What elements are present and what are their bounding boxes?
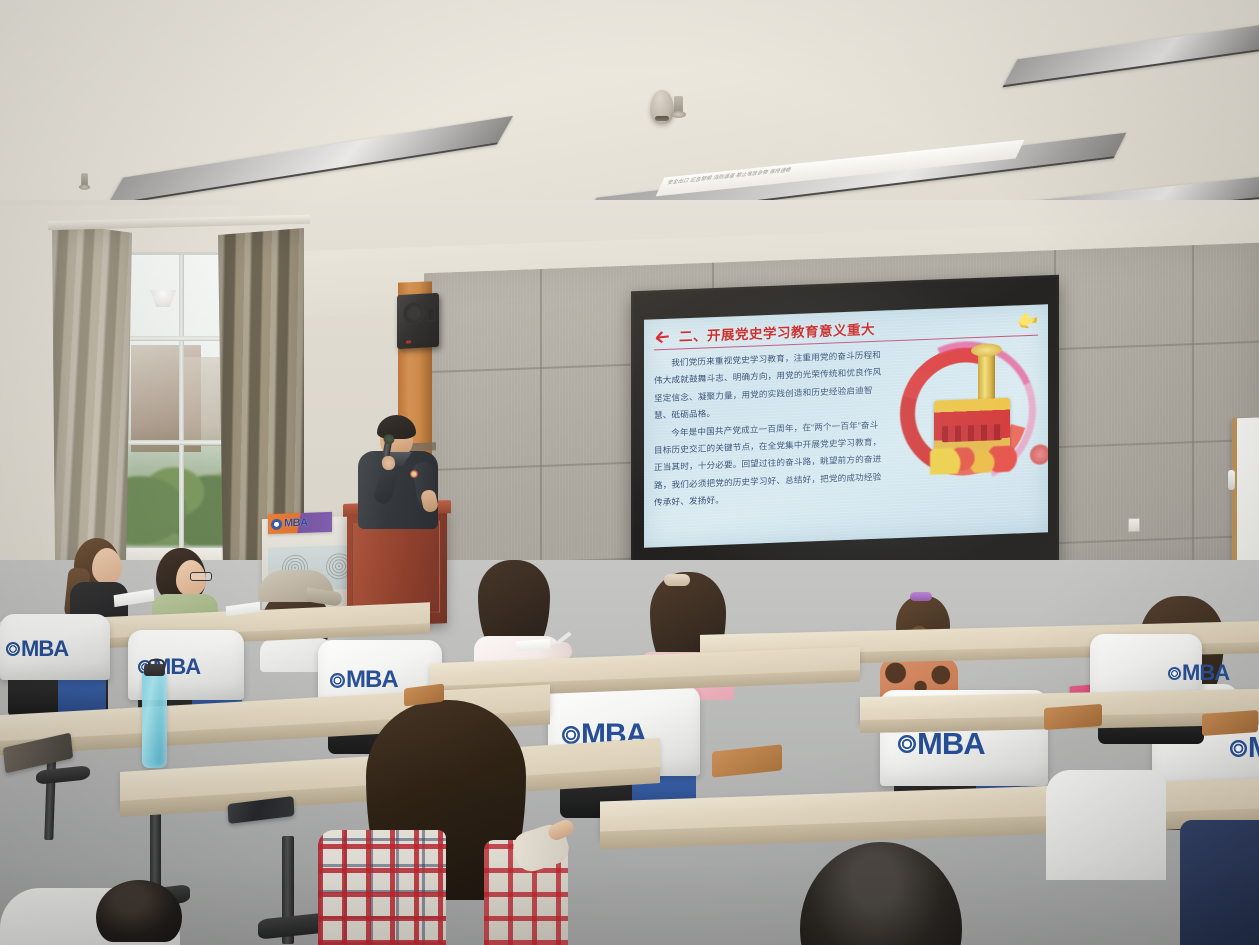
curtain-left[interactable] <box>52 222 132 582</box>
wall-speaker-icon <box>397 293 439 349</box>
floor-shading <box>0 860 1259 945</box>
presenter <box>352 418 442 528</box>
slide-title: 二、开展党史学习教育意义重大 <box>679 318 875 346</box>
slide-body: 我们党历来重视党史学习教育，注重用党的奋斗历程和伟大成就鼓舞斗志、明确方向，用党… <box>654 346 886 512</box>
projection-screen[interactable]: 二、开展党史学习教育意义重大 我们党历来重视党史学习教育，注重用党的奋斗历程和伟… <box>644 304 1048 548</box>
podium-mba-banner: MBA <box>268 512 332 534</box>
ceiling-light-slot <box>1002 23 1259 88</box>
podium-front-panel <box>352 520 440 615</box>
wooden-seat <box>1044 704 1102 730</box>
slide-paragraph: 今年是中国共产党成立一百周年，在“两个一百年”奋斗目标历史交汇的关键节点，在全党… <box>654 416 886 512</box>
mba-seal-icon <box>271 518 282 529</box>
wooden-seat <box>1202 710 1258 736</box>
eyeglasses-icon <box>190 572 212 581</box>
mba-seal-icon <box>1230 740 1247 757</box>
bottle-cap[interactable] <box>144 664 165 676</box>
hair-tie-icon <box>910 592 932 601</box>
mba-label: MBA <box>1248 734 1259 763</box>
whiteboard-knob[interactable] <box>1228 470 1235 490</box>
smoke-detector-icon <box>650 90 674 124</box>
mba-label: MBA <box>1182 662 1229 684</box>
classroom-photo: 安全出口 应急照明 消防通道 禁止堆放杂物 保持通畅 <box>0 0 1259 945</box>
chair[interactable]: MBA <box>0 614 116 710</box>
slide-paragraph: 我们党历来重视党史学习教育，注重用党的奋斗历程和伟大成就鼓舞斗志、明确方向，用党… <box>654 346 886 425</box>
mba-label: MBA <box>21 638 68 660</box>
hair-clip-icon <box>664 574 690 586</box>
water-bottle[interactable] <box>142 672 167 768</box>
presentation-slide: 二、开展党史学习教育意义重大 我们党历来重视党史学习教育，注重用党的奋斗历程和伟… <box>644 304 1048 548</box>
mba-seal-icon <box>1168 667 1181 680</box>
tiananmen-graphic <box>894 338 1044 494</box>
ceiling-light-slot <box>107 116 513 206</box>
party-badge-icon <box>410 470 418 478</box>
mba-label: MBA <box>917 728 985 759</box>
sprinkler-icon <box>81 173 88 187</box>
mba-label: MBA <box>346 668 398 692</box>
mba-banner-label: MBA <box>284 517 308 529</box>
mba-seal-icon <box>330 673 345 688</box>
sprinkler-icon <box>674 96 683 114</box>
mba-seal-icon <box>898 735 916 753</box>
wall-outlet[interactable] <box>1128 518 1140 532</box>
hammer-sickle-icon <box>654 327 673 345</box>
mba-seal-icon <box>6 642 20 656</box>
